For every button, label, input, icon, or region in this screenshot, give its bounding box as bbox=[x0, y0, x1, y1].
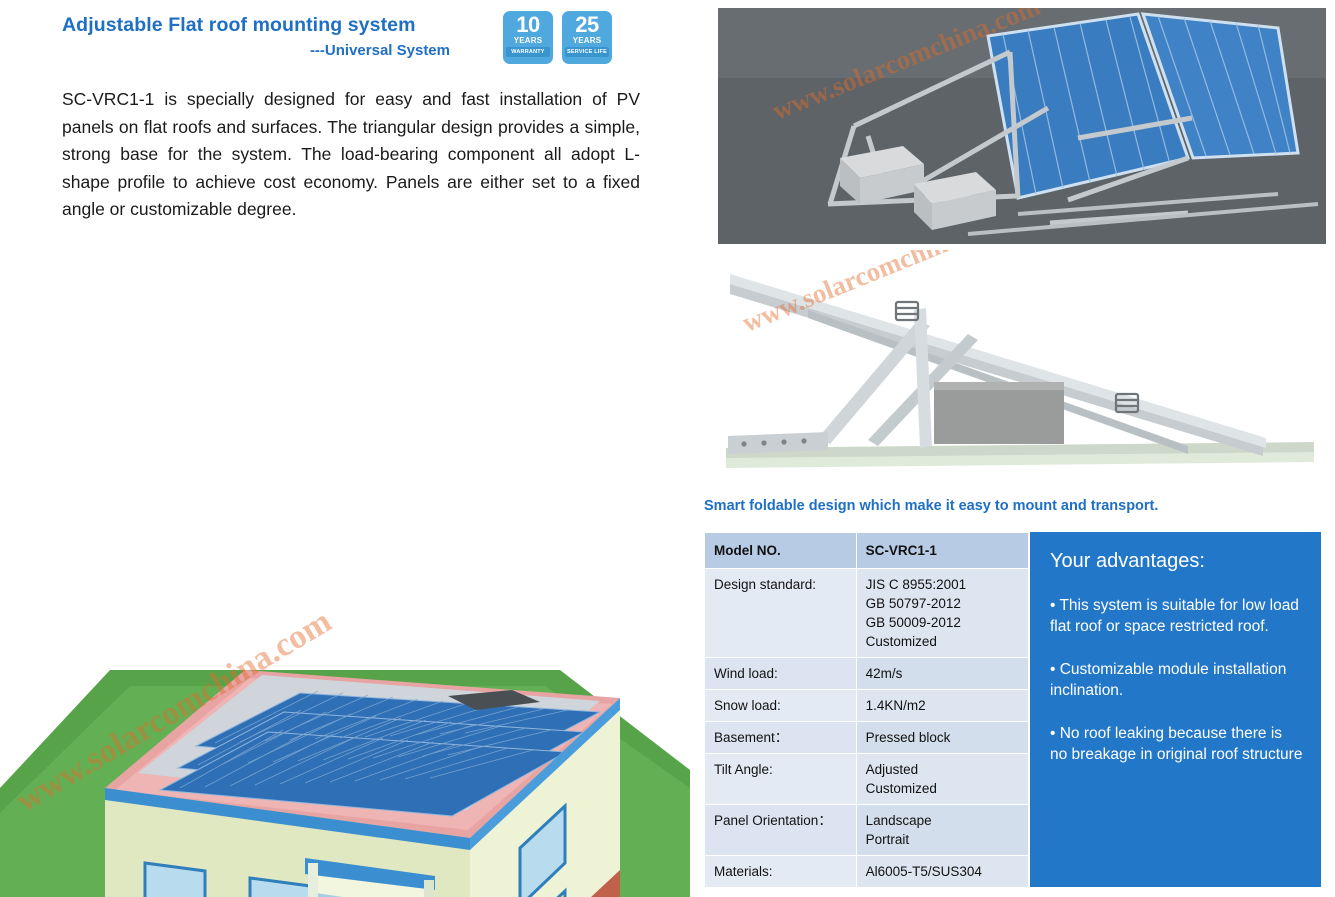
page-subtitle: ---Universal System bbox=[62, 42, 482, 59]
badge-25-years-service-life: 25 YEARS SERVICE LIFE bbox=[562, 11, 612, 64]
advantage-item-3: • No roof leaking because there is no br… bbox=[1050, 723, 1303, 765]
house-svg bbox=[0, 318, 690, 897]
table-row: Wind load: 42m/s bbox=[705, 658, 1029, 690]
table-header-row: Model NO. SC-VRC1-1 bbox=[705, 533, 1029, 569]
table-header-model-value: SC-VRC1-1 bbox=[856, 533, 1028, 569]
spec-value-tilt-angle: Adjusted Customized bbox=[856, 754, 1028, 805]
table-row: Tilt Angle: Adjusted Customized bbox=[705, 754, 1029, 805]
spec-key-panel-orientation: Panel Orientation： bbox=[705, 805, 857, 856]
spec-key-snow-load: Snow load: bbox=[705, 690, 857, 722]
page-title: Adjustable Flat roof mounting system bbox=[62, 14, 482, 36]
spec-key-design-standard: Design standard: bbox=[705, 569, 857, 658]
warranty-badges: 10 YEARS WARRANTY 25 YEARS SERVICE LIFE bbox=[503, 11, 612, 64]
table-row: Panel Orientation： Landscape Portrait bbox=[705, 805, 1029, 856]
advantage-item-1: • This system is suitable for low load f… bbox=[1050, 595, 1303, 637]
house-illustration: www.solarcomchina.com bbox=[0, 318, 690, 897]
table-header-model-label: Model NO. bbox=[705, 533, 857, 569]
badge-service-life-label: SERVICE LIFE bbox=[565, 47, 609, 57]
badge-number: 10 bbox=[503, 14, 553, 36]
spec-key-tilt-angle: Tilt Angle: bbox=[705, 754, 857, 805]
advantage-item-2: • Customizable module installation incli… bbox=[1050, 659, 1303, 701]
spec-key-wind-load: Wind load: bbox=[705, 658, 857, 690]
advantages-title: Your advantages: bbox=[1050, 550, 1303, 573]
advantages-panel: Your advantages: • This system is suitab… bbox=[1030, 532, 1321, 887]
badge-years-label: YEARS bbox=[503, 36, 553, 45]
photo-bottom-svg bbox=[718, 250, 1326, 482]
table-row: Design standard: JIS C 8955:2001 GB 5079… bbox=[705, 569, 1029, 658]
spec-value-snow-load: 1.4KN/m2 bbox=[856, 690, 1028, 722]
spec-value-materials: Al6005-T5/SUS304 bbox=[856, 856, 1028, 888]
table-row: Snow load: 1.4KN/m2 bbox=[705, 690, 1029, 722]
spec-value-panel-orientation: Landscape Portrait bbox=[856, 805, 1028, 856]
spec-value-wind-load: 42m/s bbox=[856, 658, 1028, 690]
photo-top-svg bbox=[718, 8, 1326, 244]
badge-10-years-warranty: 10 YEARS WARRANTY bbox=[503, 11, 553, 64]
photo-foldable-bracket: www.solarcomchina.com bbox=[718, 250, 1326, 482]
spec-key-basement: Basement： bbox=[705, 722, 857, 754]
right-column: www.solarcomchina.com bbox=[690, 0, 1335, 897]
left-column: Adjustable Flat roof mounting system ---… bbox=[0, 0, 690, 897]
product-description: SC-VRC1-1 is specially designed for easy… bbox=[62, 86, 640, 224]
photo-mounting-system-installed: www.solarcomchina.com bbox=[718, 8, 1326, 244]
title-block: Adjustable Flat roof mounting system ---… bbox=[62, 14, 482, 59]
table-row: Materials: Al6005-T5/SUS304 bbox=[705, 856, 1029, 888]
badge-years-label: YEARS bbox=[562, 36, 612, 45]
badge-number: 25 bbox=[562, 14, 612, 36]
photo-caption: Smart foldable design which make it easy… bbox=[704, 498, 1324, 514]
table-row: Basement： Pressed block bbox=[705, 722, 1029, 754]
specification-table: Model NO. SC-VRC1-1 Design standard: JIS… bbox=[704, 532, 1029, 888]
badge-warranty-label: WARRANTY bbox=[506, 47, 550, 57]
spec-value-basement: Pressed block bbox=[856, 722, 1028, 754]
spec-value-design-standard: JIS C 8955:2001 GB 50797-2012 GB 50009-2… bbox=[856, 569, 1028, 658]
spec-key-materials: Materials: bbox=[705, 856, 857, 888]
